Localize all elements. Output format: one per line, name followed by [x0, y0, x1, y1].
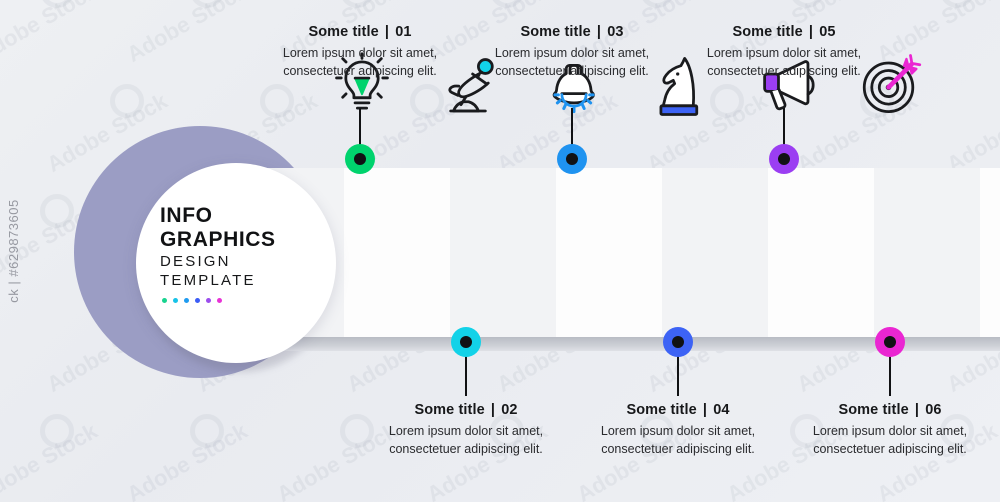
- step-marker-06[interactable]: [875, 327, 905, 357]
- watermark-tile: Adobe Stock: [943, 88, 1000, 178]
- ribbon-panels: [238, 168, 1000, 337]
- step-number: 01: [395, 24, 411, 40]
- infographic-canvas: Adobe StockAdobe StockAdobe StockAdobe S…: [0, 0, 1000, 502]
- watermark-ring-icon: [340, 0, 374, 8]
- step-text-block-01: Some title | 01Lorem ipsum dolor sit ame…: [255, 24, 465, 81]
- ribbon-panel: [662, 168, 768, 337]
- ribbon-panel: [980, 168, 1000, 337]
- watermark-tile: Adobe Stock: [123, 418, 252, 502]
- watermark-ring-icon: [640, 0, 674, 8]
- watermark-tile: Adobe Stock: [0, 0, 102, 68]
- step-number: 03: [607, 24, 623, 40]
- step-text-block-03: Some title | 03Lorem ipsum dolor sit ame…: [467, 24, 677, 81]
- step-title-06: Some title | 06: [785, 402, 995, 418]
- step-title-separator: |: [807, 24, 815, 40]
- watermark-tile: Adobe Stock: [123, 0, 252, 68]
- step-title-text: Some title: [838, 402, 908, 418]
- step-description-02: Lorem ipsum dolor sit amet, consectetuer…: [361, 423, 571, 459]
- watermark-ring-icon: [260, 84, 294, 118]
- watermark-ring-icon: [40, 0, 74, 8]
- step-title-text: Some title: [626, 402, 696, 418]
- step-title-separator: |: [595, 24, 603, 40]
- watermark-ring-icon: [40, 194, 74, 228]
- step-title-text: Some title: [414, 402, 484, 418]
- watermark-ring-icon: [190, 0, 224, 8]
- step-title-03: Some title | 03: [467, 24, 677, 40]
- logo-dot-2: [173, 298, 178, 303]
- step-description-04: Lorem ipsum dolor sit amet, consectetuer…: [573, 423, 783, 459]
- step-title-text: Some title: [308, 24, 378, 40]
- step-description-03: Lorem ipsum dolor sit amet, consectetuer…: [467, 45, 677, 81]
- logo-line-4: TEMPLATE: [160, 272, 310, 291]
- logo-dot-3: [184, 298, 189, 303]
- step-number: 04: [713, 402, 729, 418]
- step-description-05: Lorem ipsum dolor sit amet, consectetuer…: [679, 45, 889, 81]
- logo-line-3: DESIGN: [160, 253, 310, 272]
- step-description-01: Lorem ipsum dolor sit amet, consectetuer…: [255, 45, 465, 81]
- watermark-ring-icon: [490, 0, 524, 8]
- watermark-ring-icon: [190, 414, 224, 448]
- logo-dot-row: [162, 298, 310, 303]
- step-title-separator: |: [489, 402, 497, 418]
- logo-line-2: GRAPHICS: [160, 228, 310, 252]
- logo-dot-1: [162, 298, 167, 303]
- step-text-block-02: Some title | 02Lorem ipsum dolor sit ame…: [361, 402, 571, 459]
- step-title-04: Some title | 04: [573, 402, 783, 418]
- step-title-05: Some title | 05: [679, 24, 889, 40]
- step-marker-04[interactable]: [663, 327, 693, 357]
- ribbon-panel: [450, 168, 556, 337]
- step-number: 05: [819, 24, 835, 40]
- ribbon-panel: [768, 168, 874, 337]
- watermark-ring-icon: [790, 0, 824, 8]
- watermark-ring-icon: [110, 84, 144, 118]
- logo-line-1: INFO: [160, 204, 310, 228]
- step-text-block-04: Some title | 04Lorem ipsum dolor sit ame…: [573, 402, 783, 459]
- logo-dot-5: [206, 298, 211, 303]
- logo-dot-4: [195, 298, 200, 303]
- step-marker-03[interactable]: [557, 144, 587, 174]
- step-title-separator: |: [913, 402, 921, 418]
- ribbon-panel: [344, 168, 450, 337]
- watermark-id: ck | #629873605: [6, 199, 21, 302]
- ribbon-panel: [556, 168, 662, 337]
- step-title-separator: |: [383, 24, 391, 40]
- watermark-tile: Adobe Stock: [0, 418, 102, 502]
- watermark-ring-icon: [940, 0, 974, 8]
- step-number: 06: [925, 402, 941, 418]
- step-title-text: Some title: [520, 24, 590, 40]
- step-marker-01[interactable]: [345, 144, 375, 174]
- step-marker-02[interactable]: [451, 327, 481, 357]
- step-number: 02: [501, 402, 517, 418]
- watermark-ring-icon: [40, 414, 74, 448]
- step-text-block-05: Some title | 05Lorem ipsum dolor sit ame…: [679, 24, 889, 81]
- ribbon-panel: [874, 168, 980, 337]
- step-text-block-06: Some title | 06Lorem ipsum dolor sit ame…: [785, 402, 995, 459]
- logo-block: INFO GRAPHICS DESIGN TEMPLATE: [160, 204, 310, 303]
- step-marker-05[interactable]: [769, 144, 799, 174]
- step-title-02: Some title | 02: [361, 402, 571, 418]
- step-title-separator: |: [701, 402, 709, 418]
- step-title-01: Some title | 01: [255, 24, 465, 40]
- step-title-text: Some title: [732, 24, 802, 40]
- logo-dot-6: [217, 298, 222, 303]
- step-description-06: Lorem ipsum dolor sit amet, consectetuer…: [785, 423, 995, 459]
